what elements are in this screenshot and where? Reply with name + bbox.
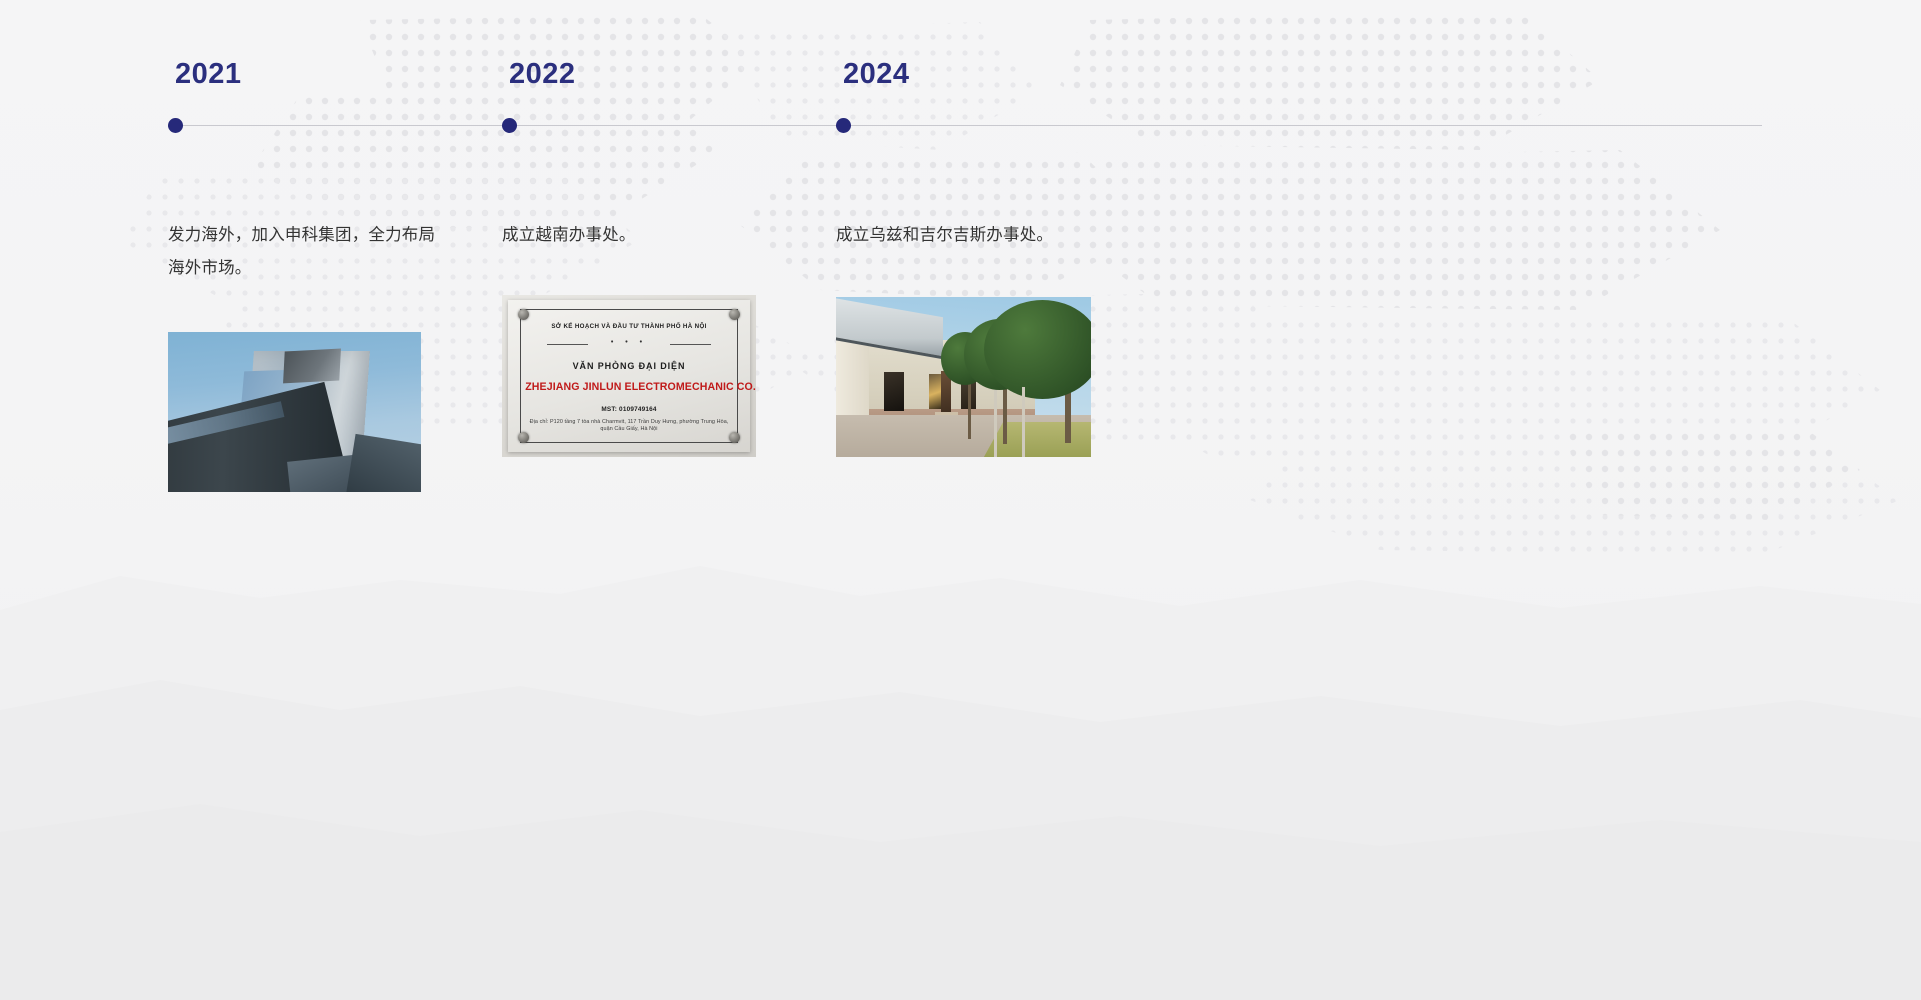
- office-window-1: [884, 372, 903, 410]
- timeline-year-2024: 2024: [843, 58, 910, 91]
- uzbekistan-office-photo[interactable]: [836, 297, 1091, 457]
- timeline-axis-line: [170, 125, 1762, 126]
- timeline-description-2021: 发力海外，加入申科集团，全力布局海外市场。: [168, 219, 436, 285]
- tree-trunk-3: [968, 379, 971, 440]
- support-pole-2: [1022, 387, 1025, 457]
- plaque-tax-code-text: MST: 0109749164: [525, 406, 733, 413]
- skyscraper-photo[interactable]: [168, 332, 421, 492]
- plaque-address-text: Địa chỉ: P120 tầng 7 tòa nhà Charmvit, 1…: [525, 419, 733, 435]
- plaque-board: SỞ KẾ HOẠCH VÀ ĐẦU TƯ THÀNH PHỐ HÀ NỘI •…: [508, 300, 749, 452]
- plaque-separator-dots: • • •: [525, 339, 733, 347]
- timeline-dot-2022[interactable]: [502, 118, 517, 133]
- plaque-company-name-text: ZHEJIANG JINLUN ELECTROMECHANIC CO.,LTD: [525, 381, 733, 393]
- plaque-screw-top-right: [729, 309, 740, 320]
- history-timeline: 2021 发力海外，加入申科集团，全力布局海外市场。 2022 成立越南办事处。: [0, 0, 1921, 1000]
- plaque-office-type-text: VĂN PHÒNG ĐẠI DIỆN: [525, 361, 733, 371]
- timeline-dot-2024[interactable]: [836, 118, 851, 133]
- timeline-year-2022: 2022: [509, 58, 576, 91]
- timeline-description-2024: 成立乌兹和吉尔吉斯办事处。: [836, 219, 1104, 252]
- plaque-authority-text: SỞ KẾ HOẠCH VÀ ĐẦU TƯ THÀNH PHỐ HÀ NỘI: [525, 323, 733, 330]
- foreground-building-right: [346, 434, 421, 492]
- timeline-year-2021: 2021: [175, 58, 242, 91]
- office-window-2: [929, 374, 940, 409]
- vietnam-office-plaque-photo[interactable]: SỞ KẾ HOẠCH VÀ ĐẦU TƯ THÀNH PHỐ HÀ NỘI •…: [502, 295, 756, 457]
- timeline-dot-2021[interactable]: [168, 118, 183, 133]
- support-pole-1: [994, 390, 997, 457]
- timeline-description-2022: 成立越南办事处。: [502, 219, 770, 252]
- tree-trunk-2: [1003, 380, 1007, 444]
- tower-roof-cap: [283, 348, 341, 383]
- plaque-screw-top-left: [518, 309, 529, 320]
